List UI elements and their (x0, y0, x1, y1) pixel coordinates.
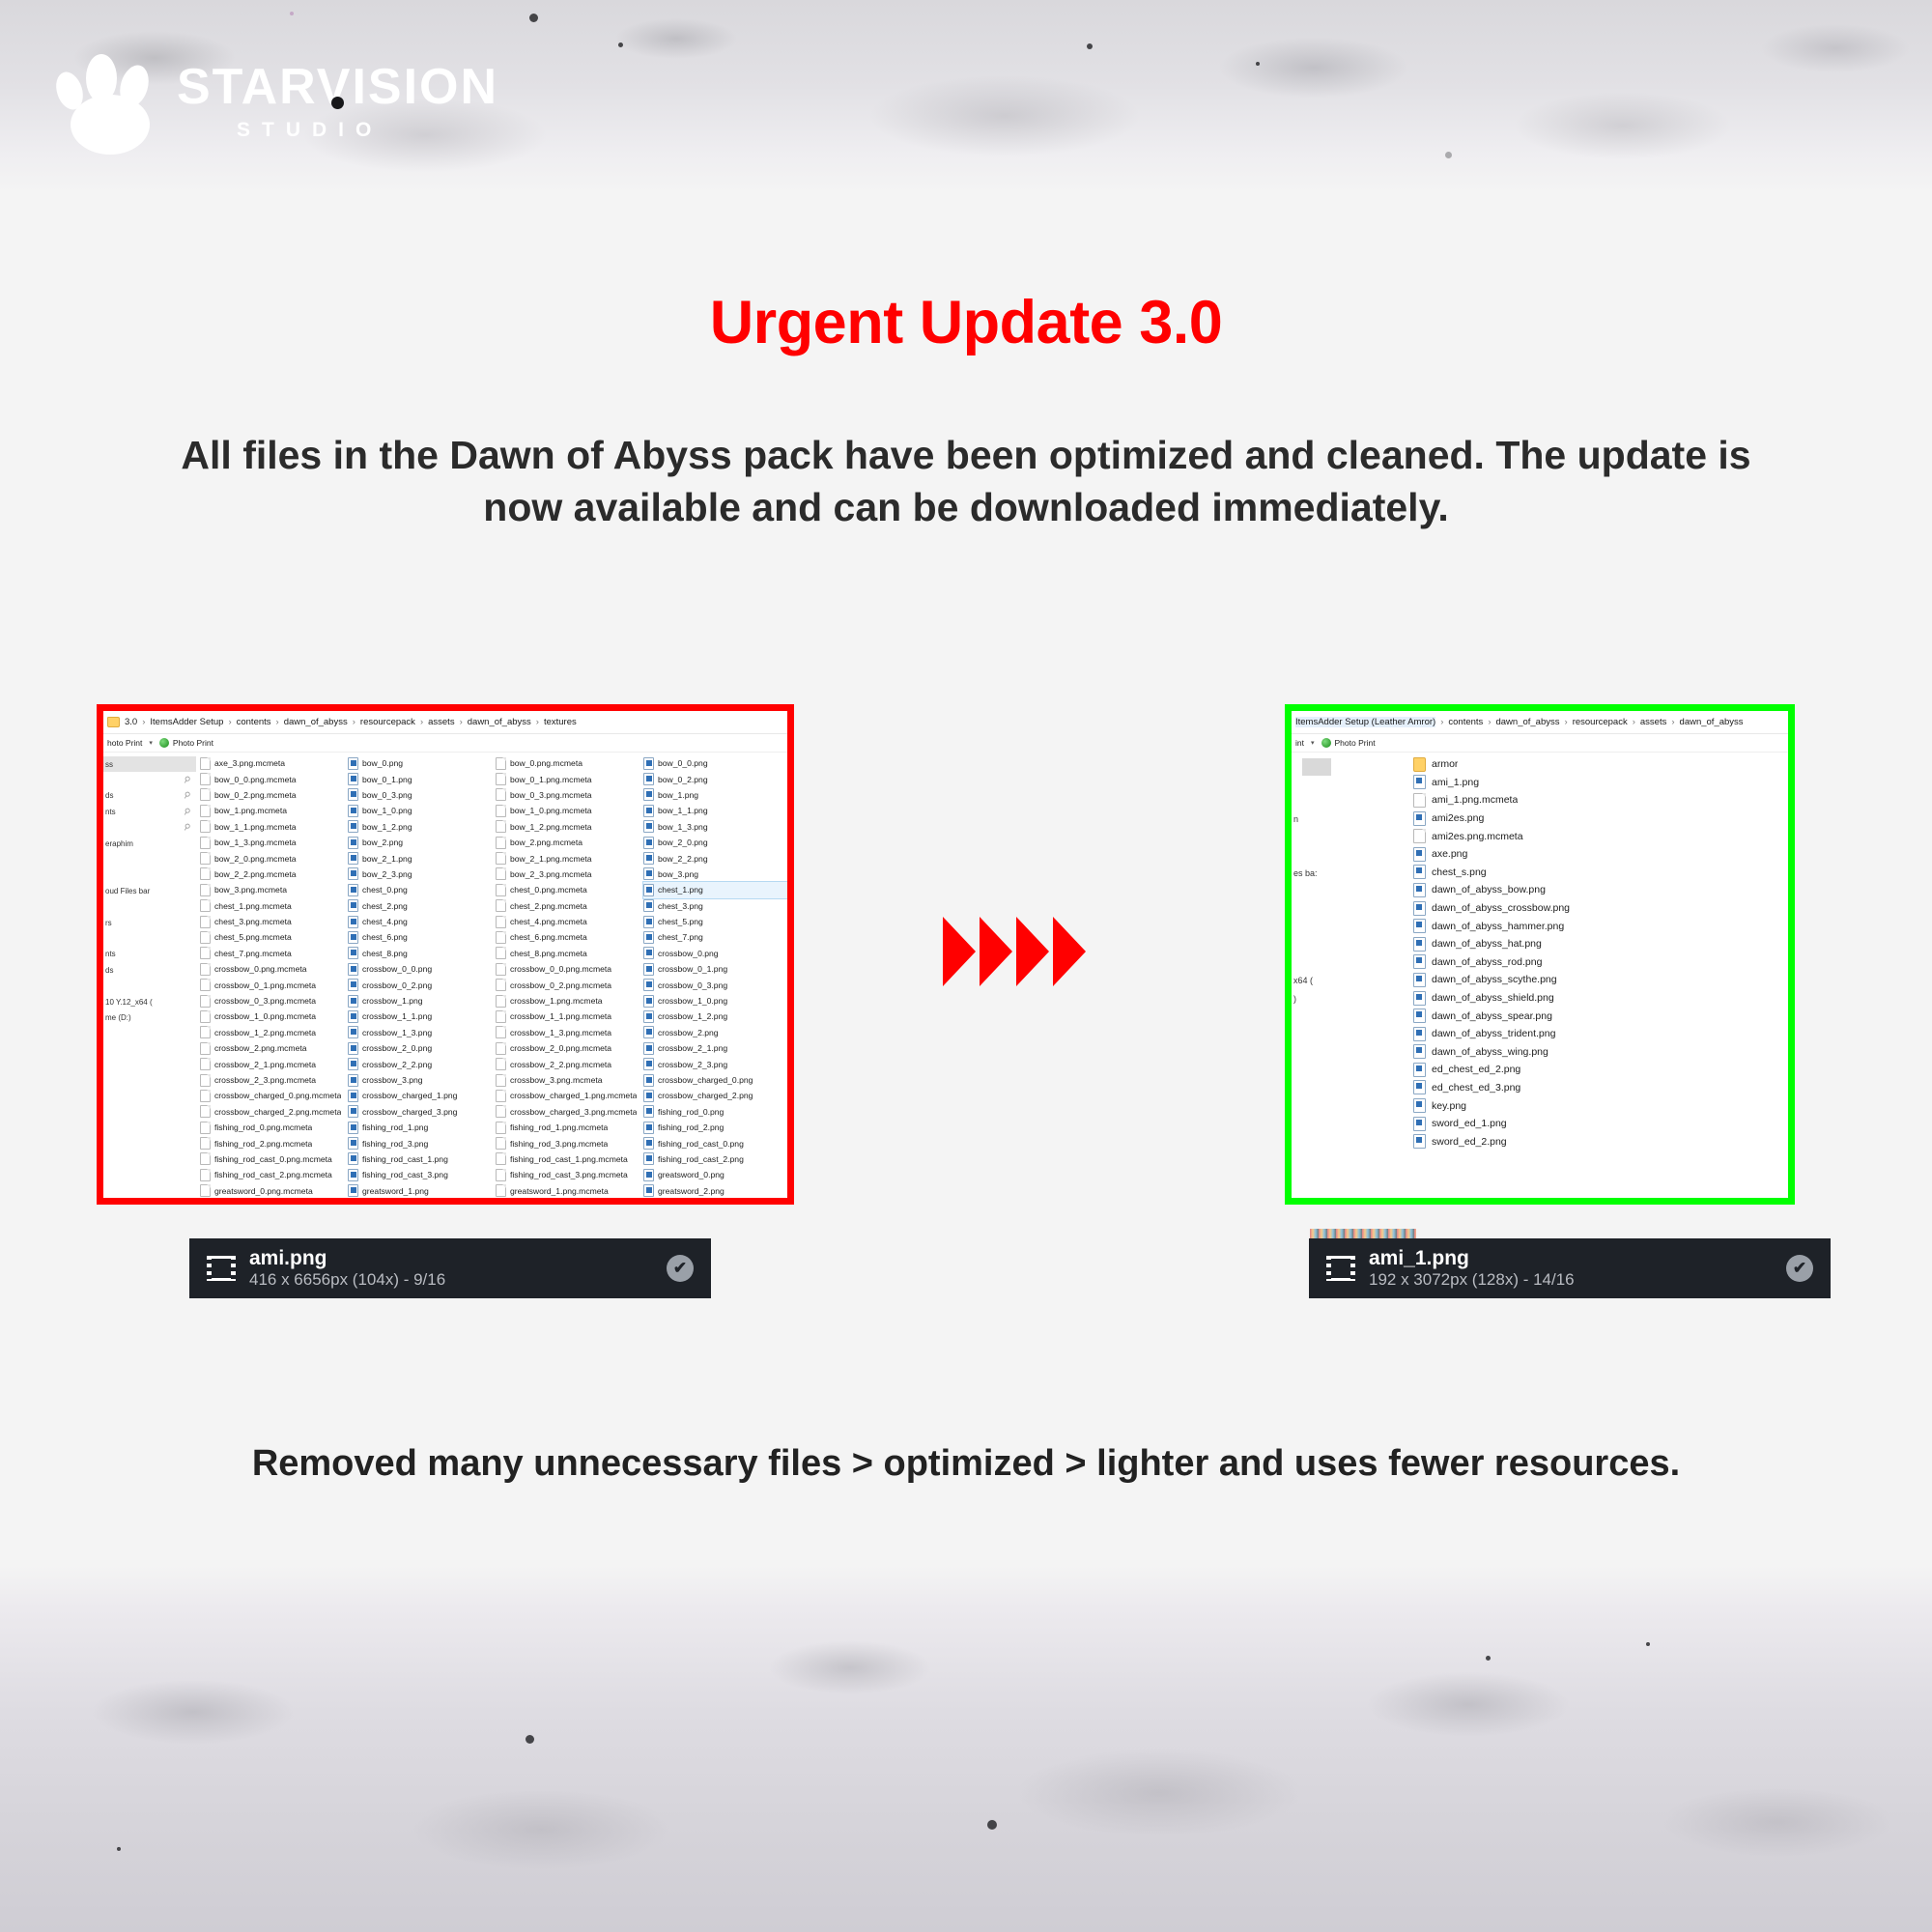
nav-item-label: 10 Y.12_x64 ( (105, 998, 153, 1007)
file-row[interactable]: dawn_of_abyss_scythe.png (1413, 971, 1788, 989)
file-row[interactable]: crossbow_charged_2.png.mcmeta (200, 1104, 344, 1120)
file-row[interactable]: crossbow_0_1.png.mcmeta (200, 977, 344, 992)
nav-item[interactable] (103, 978, 196, 993)
file-name: dawn_of_abyss_hat.png (1432, 938, 1542, 950)
nav-item[interactable]: es ba: (1292, 865, 1407, 883)
file-row[interactable]: bow_0_1.png.mcmeta (496, 771, 639, 786)
file-row[interactable]: bow_1_1.png (643, 803, 787, 818)
file-columns-left[interactable]: axe_3.png.mcmetabow_0_0.png.mcmetabow_0_… (196, 753, 787, 1198)
chevron-down-icon[interactable]: ▾ (1311, 739, 1315, 747)
file-row[interactable]: bow_2.png.mcmeta (496, 835, 639, 850)
file-row[interactable]: bow_3.png.mcmeta (200, 882, 344, 897)
file-row[interactable]: bow_2.png (348, 835, 492, 850)
nav-item[interactable] (1292, 918, 1407, 936)
navigation-pane-right[interactable]: nes ba:x64 () (1292, 753, 1407, 1198)
doc-icon (200, 1184, 211, 1197)
explorer-window-before[interactable]: 3.0›ItemsAdder Setup›contents›dawn_of_ab… (97, 704, 794, 1205)
file-row[interactable]: bow_0_3.png.mcmeta (496, 787, 639, 803)
file-row[interactable]: crossbow_2_3.png.mcmeta (200, 1072, 344, 1088)
file-row[interactable]: bow_1_0.png (348, 803, 492, 818)
file-name: greatsword_1.png (362, 1186, 429, 1196)
file-name: greatsword_1.png.mcmeta (510, 1186, 609, 1196)
pin-icon[interactable]: ⚲ (182, 774, 193, 786)
speck (1256, 62, 1260, 66)
png-icon (643, 1137, 654, 1150)
breadcrumb-bar-left[interactable]: 3.0›ItemsAdder Setup›contents›dawn_of_ab… (103, 711, 787, 734)
file-row[interactable]: bow_0_2.png.mcmeta (200, 787, 344, 803)
file-row[interactable]: crossbow_0.png.mcmeta (200, 961, 344, 977)
file-row[interactable]: crossbow_1.png.mcmeta (496, 993, 639, 1009)
file-row[interactable]: bow_1.png (643, 787, 787, 803)
nav-item[interactable]: x64 ( (1292, 972, 1407, 990)
file-row[interactable]: crossbow_charged_1.png.mcmeta (496, 1088, 639, 1103)
file-name: bow_0_0.png (658, 758, 708, 768)
png-icon (1413, 865, 1426, 879)
file-row[interactable]: fishing_rod_cast_3.png.mcmeta (496, 1167, 639, 1182)
doc-icon (496, 1058, 506, 1070)
file-row[interactable]: crossbow_3.png.mcmeta (496, 1072, 639, 1088)
speck (1445, 152, 1452, 158)
file-row[interactable]: crossbow_1_1.png (348, 1009, 492, 1024)
file-row[interactable]: greatsword_0.png.mcmeta (200, 1183, 344, 1198)
file-name: crossbow_charged_0.png.mcmeta (214, 1091, 341, 1100)
speck (526, 1735, 534, 1744)
file-name: ami2es.png.mcmeta (1432, 831, 1523, 842)
file-name: crossbow_charged_2.png.mcmeta (214, 1107, 341, 1117)
png-icon (1413, 973, 1426, 987)
doc-icon (200, 1074, 211, 1087)
breadcrumb-segment[interactable]: contents (237, 717, 271, 727)
breadcrumb-segment[interactable]: dawn_of_abyss (1495, 717, 1559, 727)
file-row[interactable]: crossbow_0_1.png (643, 961, 787, 977)
file-row[interactable]: chest_6.png (348, 929, 492, 945)
file-row[interactable]: chest_8.png.mcmeta (496, 946, 639, 961)
file-name: bow_2.png.mcmeta (510, 838, 582, 847)
file-name: fishing_rod_0.png.mcmeta (214, 1122, 312, 1132)
toolbar-photo-print[interactable]: Photo Print (173, 738, 213, 748)
nav-item[interactable] (1292, 846, 1407, 865)
png-icon (1413, 991, 1426, 1006)
file-row[interactable]: crossbow_2_1.png (643, 1040, 787, 1056)
file-row[interactable]: key.png (1413, 1096, 1788, 1115)
file-row[interactable]: bow_0_3.png (348, 787, 492, 803)
file-name: fishing_rod_1.png.mcmeta (510, 1122, 608, 1132)
file-name: crossbow_0_2.png (362, 980, 432, 990)
file-row[interactable]: bow_2_3.png (348, 867, 492, 882)
file-row[interactable]: fishing_rod_1.png.mcmeta (496, 1120, 639, 1135)
caption-bar-after: ami_1.png 192 x 3072px (128x) - 14/16 ✔ (1309, 1238, 1831, 1298)
file-row[interactable]: crossbow_charged_3.png (348, 1104, 492, 1120)
file-row[interactable]: crossbow_2_0.png (348, 1040, 492, 1056)
file-row[interactable]: dawn_of_abyss_shield.png (1413, 989, 1788, 1008)
file-row[interactable]: fishing_rod_cast_3.png (348, 1167, 492, 1182)
nav-item[interactable] (1292, 792, 1407, 810)
nav-item[interactable]: nts (103, 947, 196, 962)
file-row[interactable]: bow_0_0.png.mcmeta (200, 771, 344, 786)
nav-item[interactable] (103, 899, 196, 915)
nav-item[interactable]: oud Files bar (103, 883, 196, 898)
nav-item[interactable]: ss (103, 756, 196, 772)
file-row[interactable]: bow_0.png (348, 755, 492, 771)
nav-item[interactable] (1292, 882, 1407, 900)
nav-item[interactable]: eraphim (103, 836, 196, 851)
file-name: bow_2_2.png (658, 854, 708, 864)
file-name: chest_0.png.mcmeta (510, 885, 587, 895)
file-name: crossbow_2_1.png.mcmeta (214, 1060, 316, 1069)
breadcrumb-segment[interactable]: textures (544, 717, 577, 727)
file-column[interactable]: axe_3.png.mcmetabow_0_0.png.mcmetabow_0_… (196, 755, 344, 1198)
breadcrumb-segment[interactable]: resourcepack (1573, 717, 1628, 727)
file-column[interactable]: bow_0.png.mcmetabow_0_1.png.mcmetabow_0_… (492, 755, 639, 1198)
file-row[interactable]: crossbow_2.png (643, 1025, 787, 1040)
file-row[interactable]: bow_1.png.mcmeta (200, 803, 344, 818)
file-row[interactable]: dawn_of_abyss_rod.png (1413, 953, 1788, 972)
toolbar-right-label: int (1295, 738, 1304, 748)
nav-item[interactable]: ) (1292, 990, 1407, 1009)
file-row[interactable]: crossbow_charged_3.png.mcmeta (496, 1104, 639, 1120)
file-name: chest_1.png.mcmeta (214, 901, 292, 911)
file-row[interactable]: ami2es.png.mcmeta (1413, 827, 1788, 845)
file-row[interactable]: armor (1413, 755, 1788, 774)
toolbar-photo-print[interactable]: Photo Print (1335, 738, 1376, 748)
file-row[interactable]: greatsword_1.png.mcmeta (496, 1183, 639, 1198)
file-row[interactable]: chest_3.png (643, 898, 787, 914)
file-name: ed_chest_ed_2.png (1432, 1064, 1520, 1075)
file-row[interactable]: chest_1.png (643, 882, 787, 897)
file-name: crossbow_0.png.mcmeta (214, 964, 307, 974)
breadcrumb-segment[interactable]: assets (428, 717, 454, 727)
file-row[interactable]: fishing_rod_2.png.mcmeta (200, 1135, 344, 1151)
doc-icon (496, 837, 506, 849)
doc-icon (496, 899, 506, 912)
file-row[interactable]: ed_chest_ed_3.png (1413, 1079, 1788, 1097)
file-row[interactable]: bow_1_3.png (643, 819, 787, 835)
file-name: bow_0.png.mcmeta (510, 758, 582, 768)
png-icon (1413, 901, 1426, 916)
breadcrumb-segment[interactable]: dawn_of_abyss (468, 717, 531, 727)
breadcrumb-segment[interactable]: contents (1448, 717, 1483, 727)
file-row[interactable]: bow_1_2.png (348, 819, 492, 835)
photo-print-icon (1321, 738, 1331, 748)
file-name: crossbow_2_0.png.mcmeta (510, 1043, 611, 1053)
file-name: armor (1432, 758, 1458, 770)
doc-icon (200, 1137, 211, 1150)
file-row[interactable]: bow_2_1.png.mcmeta (496, 850, 639, 866)
speck (1486, 1656, 1491, 1661)
file-row[interactable]: greatsword_1.png (348, 1183, 492, 1198)
file-row[interactable]: crossbow_charged_1.png (348, 1088, 492, 1103)
file-name: chest_2.png.mcmeta (510, 901, 587, 911)
file-row[interactable]: crossbow_charged_2.png (643, 1088, 787, 1103)
file-row[interactable]: bow_2_3.png.mcmeta (496, 867, 639, 882)
chevron-right-icon (943, 917, 976, 986)
file-name: crossbow_1_0.png.mcmeta (214, 1011, 316, 1021)
nav-item[interactable] (1292, 775, 1407, 793)
file-row[interactable]: fishing_rod_0.png (643, 1104, 787, 1120)
file-row[interactable]: crossbow_1_2.png.mcmeta (200, 1025, 344, 1040)
nav-item[interactable] (103, 867, 196, 883)
check-icon[interactable]: ✔ (1786, 1255, 1813, 1282)
chevron-down-icon[interactable]: ▾ (149, 739, 153, 747)
file-name: crossbow_1_3.png.mcmeta (510, 1028, 611, 1037)
file-name: chest_7.png (658, 932, 703, 942)
png-icon (643, 837, 654, 849)
file-row[interactable]: fishing_rod_3.png (348, 1135, 492, 1151)
file-name: dawn_of_abyss_trident.png (1432, 1028, 1555, 1039)
file-name: chest_s.png (1432, 867, 1487, 878)
png-icon (348, 884, 358, 896)
file-row[interactable]: crossbow_1_0.png (643, 993, 787, 1009)
nav-item[interactable]: rs (103, 915, 196, 930)
file-row[interactable]: bow_1_2.png.mcmeta (496, 819, 639, 835)
file-row[interactable]: bow_0_0.png (643, 755, 787, 771)
file-row[interactable]: chest_5.png (643, 914, 787, 929)
file-row[interactable]: fishing_rod_3.png.mcmeta (496, 1135, 639, 1151)
file-row[interactable]: dawn_of_abyss_wing.png (1413, 1043, 1788, 1062)
file-name: crossbow_1.png (362, 996, 423, 1006)
file-name: chest_7.png.mcmeta (214, 949, 292, 958)
png-icon (348, 979, 358, 991)
file-name: crossbow_charged_0.png (658, 1075, 753, 1085)
file-row[interactable]: bow_1_1.png.mcmeta (200, 819, 344, 835)
file-row[interactable]: bow_2_0.png (643, 835, 787, 850)
file-row[interactable]: ami_1.png (1413, 774, 1788, 792)
file-column[interactable]: bow_0.pngbow_0_1.pngbow_0_3.pngbow_1_0.p… (344, 755, 492, 1198)
file-row[interactable]: crossbow_0_2.png.mcmeta (496, 977, 639, 992)
file-row[interactable]: crossbow_2_2.png.mcmeta (496, 1056, 639, 1071)
file-row[interactable]: chest_0.png.mcmeta (496, 882, 639, 897)
file-row[interactable]: bow_2_1.png (348, 850, 492, 866)
file-row[interactable]: axe.png (1413, 845, 1788, 864)
file-row[interactable]: bow_1_3.png.mcmeta (200, 835, 344, 850)
png-icon (643, 884, 654, 896)
file-row[interactable]: chest_6.png.mcmeta (496, 929, 639, 945)
breadcrumb-segment[interactable]: dawn_of_abyss (1680, 717, 1744, 727)
file-name: crossbow_charged_1.png (362, 1091, 457, 1100)
file-name: bow_1_0.png.mcmeta (510, 806, 592, 815)
file-row[interactable]: ed_chest_ed_2.png (1413, 1061, 1788, 1079)
file-row[interactable]: bow_2_2.png.mcmeta (200, 867, 344, 882)
file-row[interactable]: bow_0_1.png (348, 771, 492, 786)
explorer-window-after[interactable]: ItemsAdder Setup (Leather Amror)›content… (1285, 704, 1795, 1205)
file-row[interactable]: dawn_of_abyss_hat.png (1413, 935, 1788, 953)
file-name: crossbow_charged_3.png (362, 1107, 457, 1117)
nav-item[interactable]: nts⚲ (103, 804, 196, 819)
nav-item[interactable]: ds (103, 962, 196, 978)
breadcrumb-separator: › (1565, 717, 1568, 727)
breadcrumb-segment[interactable]: assets (1640, 717, 1666, 727)
file-row[interactable]: crossbow_charged_0.png (643, 1072, 787, 1088)
file-row[interactable]: fishing_rod_cast_0.png.mcmeta (200, 1151, 344, 1167)
pin-icon[interactable]: ⚲ (182, 790, 193, 803)
file-row[interactable]: crossbow_0_2.png (348, 977, 492, 992)
file-row[interactable]: chest_7.png.mcmeta (200, 946, 344, 961)
file-row[interactable]: chest_0.png (348, 882, 492, 897)
nav-item[interactable]: ⚲ (103, 820, 196, 836)
breadcrumb-bar-right[interactable]: ItemsAdder Setup (Leather Amror)›content… (1292, 711, 1788, 734)
breadcrumb-segment[interactable]: ItemsAdder Setup (Leather Amror) (1295, 717, 1435, 727)
breadcrumb-separator: › (228, 717, 231, 727)
file-row[interactable]: fishing_rod_1.png (348, 1120, 492, 1135)
file-row[interactable]: crossbow_3.png (348, 1072, 492, 1088)
file-row[interactable]: crossbow_0.png (643, 946, 787, 961)
doc-icon (200, 1026, 211, 1038)
caption-meta: 416 x 6656px (104x) - 9/16 (249, 1270, 445, 1290)
png-icon (643, 979, 654, 991)
page-footnote: Removed many unnecessary files > optimiz… (193, 1439, 1739, 1489)
file-row[interactable]: crossbow_0_3.png.mcmeta (200, 993, 344, 1009)
file-row[interactable]: sword_ed_1.png (1413, 1115, 1788, 1133)
png-icon (1413, 1134, 1426, 1149)
png-icon (348, 1169, 358, 1181)
file-row[interactable]: chest_8.png (348, 946, 492, 961)
file-name: crossbow_2.png (658, 1028, 719, 1037)
doc-icon (200, 773, 211, 785)
file-row[interactable]: fishing_rod_cast_2.png.mcmeta (200, 1167, 344, 1182)
png-icon (643, 1122, 654, 1134)
file-row[interactable]: crossbow_1_1.png.mcmeta (496, 1009, 639, 1024)
file-row[interactable]: chest_4.png.mcmeta (496, 914, 639, 929)
file-row[interactable]: fishing_rod_cast_0.png (643, 1135, 787, 1151)
breadcrumb[interactable]: 3.0›ItemsAdder Setup›contents›dawn_of_ab… (125, 717, 577, 727)
doc-icon (200, 788, 211, 801)
file-row[interactable]: fishing_rod_0.png.mcmeta (200, 1120, 344, 1135)
doc-icon (496, 931, 506, 944)
file-name: bow_2_3.png.mcmeta (510, 869, 592, 879)
png-icon (348, 1090, 358, 1102)
file-row[interactable]: bow_1_0.png.mcmeta (496, 803, 639, 818)
pin-icon[interactable]: ⚲ (182, 806, 193, 818)
png-icon (643, 1058, 654, 1070)
file-column[interactable]: bow_0_0.pngbow_0_2.pngbow_1.pngbow_1_1.p… (639, 755, 787, 1198)
file-row[interactable]: crossbow_2_2.png (348, 1056, 492, 1071)
file-row[interactable]: crossbow_charged_0.png.mcmeta (200, 1088, 344, 1103)
file-row[interactable]: fishing_rod_cast_1.png (348, 1151, 492, 1167)
file-row[interactable]: dawn_of_abyss_bow.png (1413, 881, 1788, 899)
file-name: bow_0_3.png (362, 790, 412, 800)
file-name: bow_2_1.png (362, 854, 412, 864)
png-icon (643, 757, 654, 770)
speck (117, 1847, 121, 1851)
file-row[interactable]: sword_ed_2.png (1413, 1132, 1788, 1151)
doc-icon (496, 1184, 506, 1197)
file-row[interactable]: chest_7.png (643, 929, 787, 945)
file-row[interactable]: crossbow_0_0.png.mcmeta (496, 961, 639, 977)
file-row[interactable]: bow_2_0.png.mcmeta (200, 850, 344, 866)
file-row[interactable]: chest_1.png.mcmeta (200, 898, 344, 914)
file-row[interactable]: greatsword_0.png (643, 1167, 787, 1182)
toolbar-right[interactable]: int ▾ Photo Print (1292, 734, 1788, 753)
file-row[interactable]: dawn_of_abyss_crossbow.png (1413, 899, 1788, 918)
check-icon[interactable]: ✔ (667, 1255, 694, 1282)
breadcrumb-separator: › (536, 717, 539, 727)
file-row[interactable]: chest_4.png (348, 914, 492, 929)
photo-print-icon (159, 738, 169, 748)
file-row[interactable]: chest_s.png (1413, 864, 1788, 882)
doc-icon (200, 979, 211, 991)
nav-item[interactable] (1292, 828, 1407, 846)
nav-item[interactable]: 10 Y.12_x64 ( (103, 994, 196, 1009)
toolbar-left[interactable]: hoto Print ▾ Photo Print (103, 734, 787, 753)
speck (529, 14, 538, 22)
nav-item[interactable] (103, 851, 196, 867)
png-icon (348, 773, 358, 785)
file-row[interactable]: crossbow_1_0.png.mcmeta (200, 1009, 344, 1024)
file-name: crossbow_2_3.png (658, 1060, 727, 1069)
nav-item[interactable] (1292, 954, 1407, 973)
nav-item[interactable]: n (1292, 810, 1407, 829)
nav-item[interactable] (1292, 900, 1407, 919)
file-row[interactable]: dawn_of_abyss_hammer.png (1413, 917, 1788, 935)
file-name: ami_1.png (1432, 777, 1479, 788)
file-row[interactable]: chest_5.png.mcmeta (200, 929, 344, 945)
file-row[interactable]: crossbow_2.png.mcmeta (200, 1040, 344, 1056)
png-icon (643, 1105, 654, 1118)
file-row[interactable]: bow_3.png (643, 867, 787, 882)
nav-item[interactable]: ⚲ (103, 772, 196, 787)
navigation-pane-left[interactable]: ss⚲ds⚲nts⚲⚲eraphimoud Files barrsntsds10… (103, 753, 196, 1198)
file-row[interactable]: bow_2_2.png (643, 850, 787, 866)
doc-icon (200, 963, 211, 976)
png-icon (643, 852, 654, 865)
file-row[interactable]: chest_2.png.mcmeta (496, 898, 639, 914)
file-name: crossbow_0_2.png.mcmeta (510, 980, 611, 990)
file-row[interactable]: ami2es.png (1413, 810, 1788, 828)
file-name: dawn_of_abyss_spear.png (1432, 1010, 1552, 1022)
file-row[interactable]: crossbow_1_3.png.mcmeta (496, 1025, 639, 1040)
doc-icon (496, 1152, 506, 1165)
file-name: fishing_rod_cast_0.png (658, 1139, 744, 1149)
file-row[interactable]: chest_3.png.mcmeta (200, 914, 344, 929)
file-row[interactable]: crossbow_0_3.png (643, 977, 787, 992)
png-icon (348, 1010, 358, 1023)
breadcrumb-segment[interactable]: ItemsAdder Setup (150, 717, 223, 727)
nav-item[interactable]: me (D:) (103, 1009, 196, 1025)
doc-icon (496, 1137, 506, 1150)
file-row[interactable]: chest_2.png (348, 898, 492, 914)
file-row[interactable]: fishing_rod_cast_1.png.mcmeta (496, 1151, 639, 1167)
png-icon (348, 837, 358, 849)
file-row[interactable]: bow_0.png.mcmeta (496, 755, 639, 771)
nav-item[interactable] (103, 930, 196, 946)
breadcrumb[interactable]: ItemsAdder Setup (Leather Amror)›content… (1295, 717, 1744, 727)
file-row[interactable]: bow_0_2.png (643, 771, 787, 786)
png-icon (348, 1122, 358, 1134)
breadcrumb-segment[interactable]: dawn_of_abyss (284, 717, 348, 727)
pin-icon[interactable]: ⚲ (182, 821, 193, 834)
file-row[interactable]: greatsword_2.png (643, 1183, 787, 1198)
file-row[interactable]: crossbow_1_3.png (348, 1025, 492, 1040)
file-row[interactable]: dawn_of_abyss_trident.png (1413, 1025, 1788, 1043)
file-row[interactable]: ami_1.png.mcmeta (1413, 791, 1788, 810)
file-row[interactable]: crossbow_2_1.png.mcmeta (200, 1056, 344, 1071)
file-row[interactable]: dawn_of_abyss_spear.png (1413, 1007, 1788, 1025)
nav-item[interactable] (1292, 936, 1407, 954)
nav-item[interactable]: ds⚲ (103, 788, 196, 804)
file-row[interactable]: crossbow_2_3.png (643, 1056, 787, 1071)
file-row[interactable]: fishing_rod_cast_2.png (643, 1151, 787, 1167)
file-row[interactable]: fishing_rod_2.png (643, 1120, 787, 1135)
breadcrumb-segment[interactable]: 3.0 (125, 717, 137, 727)
file-name: bow_2_3.png (362, 869, 412, 879)
file-row[interactable]: crossbow_0_0.png (348, 961, 492, 977)
breadcrumb-segment[interactable]: resourcepack (360, 717, 415, 727)
file-row[interactable]: axe_3.png.mcmeta (200, 755, 344, 771)
file-list-right[interactable]: armorami_1.pngami_1.png.mcmetaami2es.png… (1407, 753, 1788, 1198)
file-row[interactable]: crossbow_2_0.png.mcmeta (496, 1040, 639, 1056)
file-row[interactable]: crossbow_1.png (348, 993, 492, 1009)
file-row[interactable]: crossbow_1_2.png (643, 1009, 787, 1024)
